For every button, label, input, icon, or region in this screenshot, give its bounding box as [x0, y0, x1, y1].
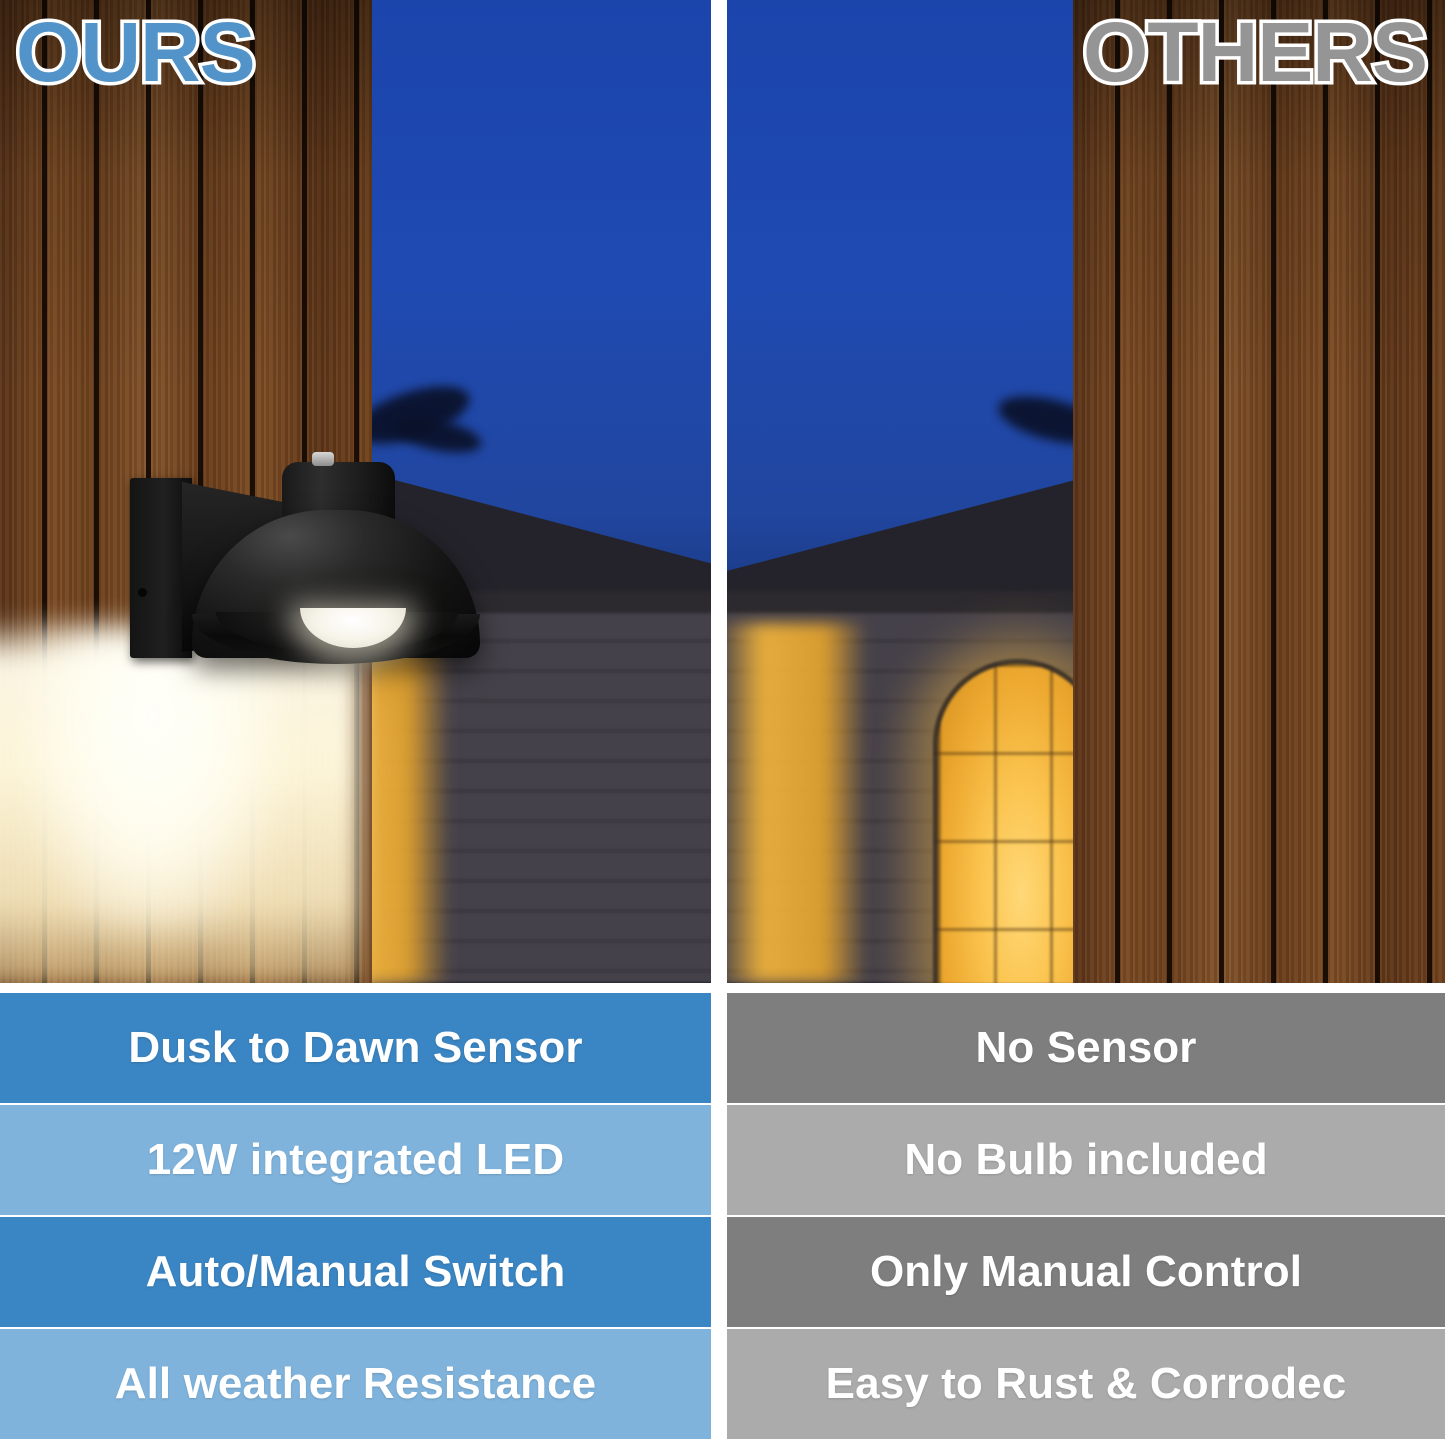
feature-row: Easy to Rust & Corrodec	[727, 1329, 1445, 1439]
ours-lamp-fixture	[130, 452, 480, 682]
feature-row: 12W integrated LED	[0, 1105, 711, 1215]
feature-label: All weather Resistance	[115, 1359, 597, 1409]
others-badge: OTHERS	[1083, 10, 1427, 94]
feature-label: No Bulb included	[904, 1135, 1267, 1185]
others-feature-column: No Sensor No Bulb included Only Manual C…	[727, 993, 1445, 1441]
photo-panel-others: OTHERS	[727, 0, 1445, 983]
feature-label: 12W integrated LED	[147, 1135, 564, 1185]
feature-comparison-table: Dusk to Dawn Sensor 12W integrated LED A…	[0, 993, 1445, 1441]
screw-icon	[138, 588, 147, 597]
comparison-infographic: OURS	[0, 0, 1445, 1445]
wood-fence-right	[1073, 0, 1445, 983]
feature-row: Dusk to Dawn Sensor	[0, 993, 711, 1103]
feature-row: No Bulb included	[727, 1105, 1445, 1215]
sensor-cap	[312, 452, 334, 466]
feature-row: Auto/Manual Switch	[0, 1217, 711, 1327]
photo-panel-ours: OURS	[0, 0, 711, 983]
photo-row: OURS	[0, 0, 1445, 983]
feature-label: Easy to Rust & Corrodec	[826, 1359, 1347, 1409]
feature-label: No Sensor	[976, 1023, 1197, 1073]
feature-row: Only Manual Control	[727, 1217, 1445, 1327]
ours-badge-label: OURS	[16, 5, 255, 99]
feature-row: No Sensor	[727, 993, 1445, 1103]
ours-feature-column: Dusk to Dawn Sensor 12W integrated LED A…	[0, 993, 711, 1441]
feature-label: Auto/Manual Switch	[146, 1247, 566, 1297]
ours-badge: OURS	[16, 10, 255, 94]
others-badge-label: OTHERS	[1083, 5, 1427, 99]
feature-label: Only Manual Control	[870, 1247, 1302, 1297]
feature-label: Dusk to Dawn Sensor	[128, 1023, 582, 1073]
feature-row: All weather Resistance	[0, 1329, 711, 1439]
wall-light-glow	[727, 623, 867, 983]
